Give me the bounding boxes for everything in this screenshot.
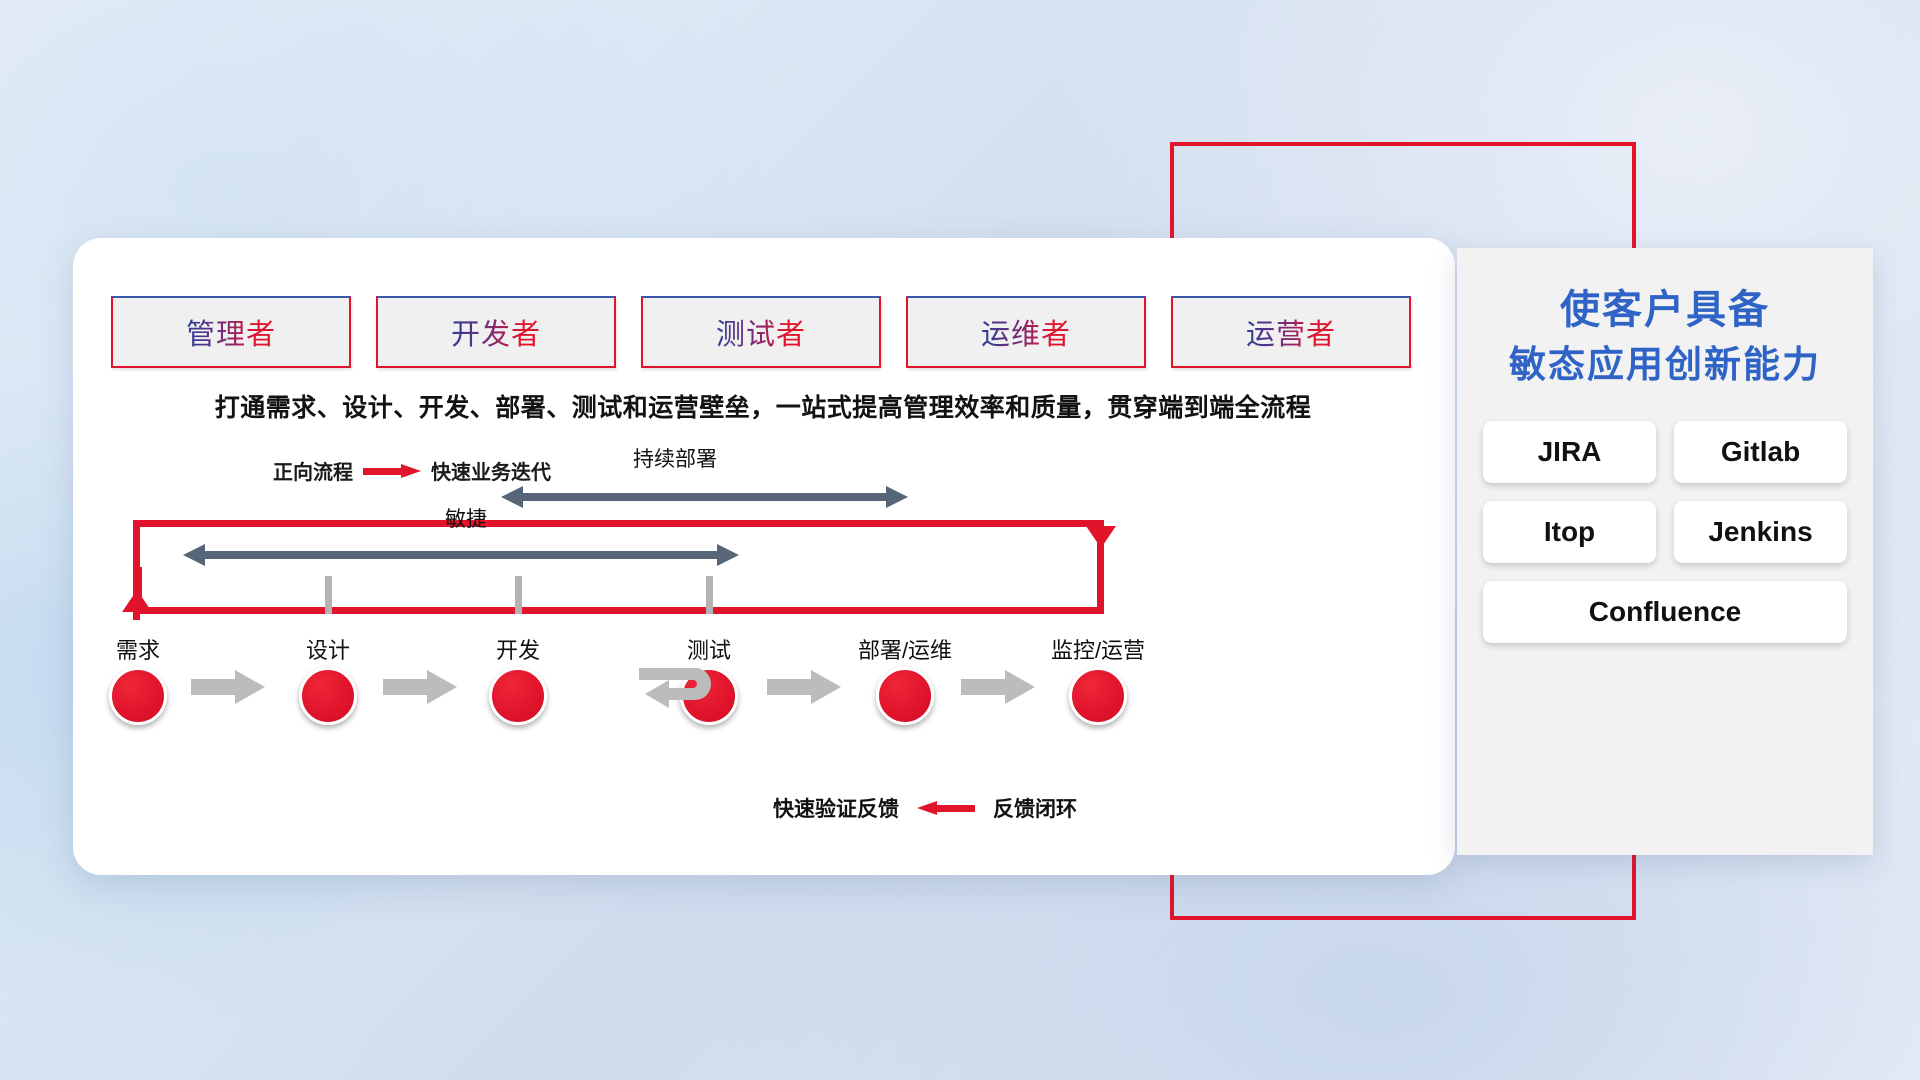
tick-develop xyxy=(515,576,522,614)
arrow-right-red-icon xyxy=(363,464,421,478)
role-box-manager[interactable]: 管理者 xyxy=(111,296,351,368)
role-label: 测试者 xyxy=(716,311,806,353)
tool-chip-confluence[interactable]: Confluence xyxy=(1483,581,1847,643)
flow-arrow-test-to-deploy-icon xyxy=(767,670,841,704)
stage-monitor-operate[interactable]: 监控/运营 xyxy=(1033,633,1163,725)
role-box-ops[interactable]: 运维者 xyxy=(906,296,1146,368)
role-box-tester[interactable]: 测试者 xyxy=(641,296,881,368)
flow-arrow-req-to-design-icon xyxy=(191,670,265,704)
feedback-loop-legend: 快速验证反馈 反馈闭环 xyxy=(773,793,1077,823)
forward-flow-legend: 正向流程 快速业务迭代 xyxy=(273,456,551,485)
tick-requirement xyxy=(135,567,142,614)
description-text: 打通需求、设计、开发、部署、测试和运营壁垒，一站式提高管理效率和质量，贯穿端到端… xyxy=(113,388,1413,424)
agile-label: 敏捷 xyxy=(445,503,487,533)
tool-chip-jira[interactable]: JIRA xyxy=(1483,421,1656,483)
role-boxes-row: 管理者 开发者 测试者 运维者 运营者 xyxy=(111,296,1411,368)
role-label: 运营者 xyxy=(1246,311,1336,353)
stage-deploy-ops[interactable]: 部署/运维 xyxy=(840,633,970,725)
stage-requirement[interactable]: 需求 xyxy=(73,633,203,725)
tool-chip-gitlab[interactable]: Gitlab xyxy=(1674,421,1847,483)
red-loop-bottom-segment xyxy=(133,607,1104,614)
continuous-deployment-label: 持续部署 xyxy=(633,443,717,473)
tool-chip-itop[interactable]: Itop xyxy=(1483,501,1656,563)
stage-label: 需求 xyxy=(73,633,203,665)
stage-dot-icon xyxy=(489,667,547,725)
tool-chip-label: Confluence xyxy=(1589,596,1741,628)
panel-title-line1: 使客户具备 xyxy=(1483,282,1847,339)
flow-arrow-deploy-to-monitor-icon xyxy=(961,670,1035,704)
tick-test xyxy=(706,576,713,614)
tool-chip-label: Itop xyxy=(1544,516,1595,548)
agile-double-arrow-icon xyxy=(183,544,739,566)
stage-dot-icon xyxy=(299,667,357,725)
role-label: 开发者 xyxy=(451,311,541,353)
stage-label: 测试 xyxy=(644,633,774,665)
panel-title: 使客户具备 敏态应用创新能力 xyxy=(1483,282,1847,391)
feedback-to-label: 快速验证反馈 xyxy=(773,793,899,823)
stage-develop[interactable]: 开发 xyxy=(453,633,583,725)
role-label: 运维者 xyxy=(981,311,1071,353)
stage-label: 设计 xyxy=(263,633,393,665)
stage-label: 监控/运营 xyxy=(1033,633,1163,665)
stage-label: 开发 xyxy=(453,633,583,665)
devops-flow-card: 管理者 开发者 测试者 运维者 运营者 打通需求、设计、开发、部署、测试和运营壁… xyxy=(73,238,1455,875)
role-box-developer[interactable]: 开发者 xyxy=(376,296,616,368)
stage-dot-icon xyxy=(109,667,167,725)
red-loop-top-segment xyxy=(133,520,1104,527)
arrow-left-red-icon xyxy=(917,801,975,815)
forward-flow-to-label: 快速业务迭代 xyxy=(431,456,551,485)
flow-loopback-arrow-icon xyxy=(635,662,723,718)
tool-chip-label: Gitlab xyxy=(1721,436,1800,468)
forward-flow-from-label: 正向流程 xyxy=(273,456,353,485)
tick-design xyxy=(325,576,332,614)
tool-chip-label: JIRA xyxy=(1538,436,1602,468)
tool-chip-label: Jenkins xyxy=(1708,516,1812,548)
role-box-operator[interactable]: 运营者 xyxy=(1171,296,1411,368)
role-label: 管理者 xyxy=(186,311,276,353)
stage-dot-icon xyxy=(1069,667,1127,725)
flow-arrow-design-to-develop-icon xyxy=(383,670,457,704)
tool-chip-list: JIRA Gitlab Itop Jenkins Confluence xyxy=(1483,421,1847,643)
feedback-from-label: 反馈闭环 xyxy=(993,793,1077,823)
stage-label: 部署/运维 xyxy=(840,633,970,665)
stage-row: 需求 设计 开发 测试 部署/运维 监控/运营 xyxy=(73,633,1455,753)
stage-design[interactable]: 设计 xyxy=(263,633,393,725)
panel-title-line2: 敏态应用创新能力 xyxy=(1483,339,1847,392)
arrow-down-red-icon xyxy=(1086,526,1116,548)
tool-chip-jenkins[interactable]: Jenkins xyxy=(1674,501,1847,563)
value-proposition-panel: 使客户具备 敏态应用创新能力 JIRA Gitlab Itop Jenkins … xyxy=(1457,248,1873,855)
stage-dot-icon xyxy=(876,667,934,725)
continuous-deployment-double-arrow-icon xyxy=(501,486,908,508)
